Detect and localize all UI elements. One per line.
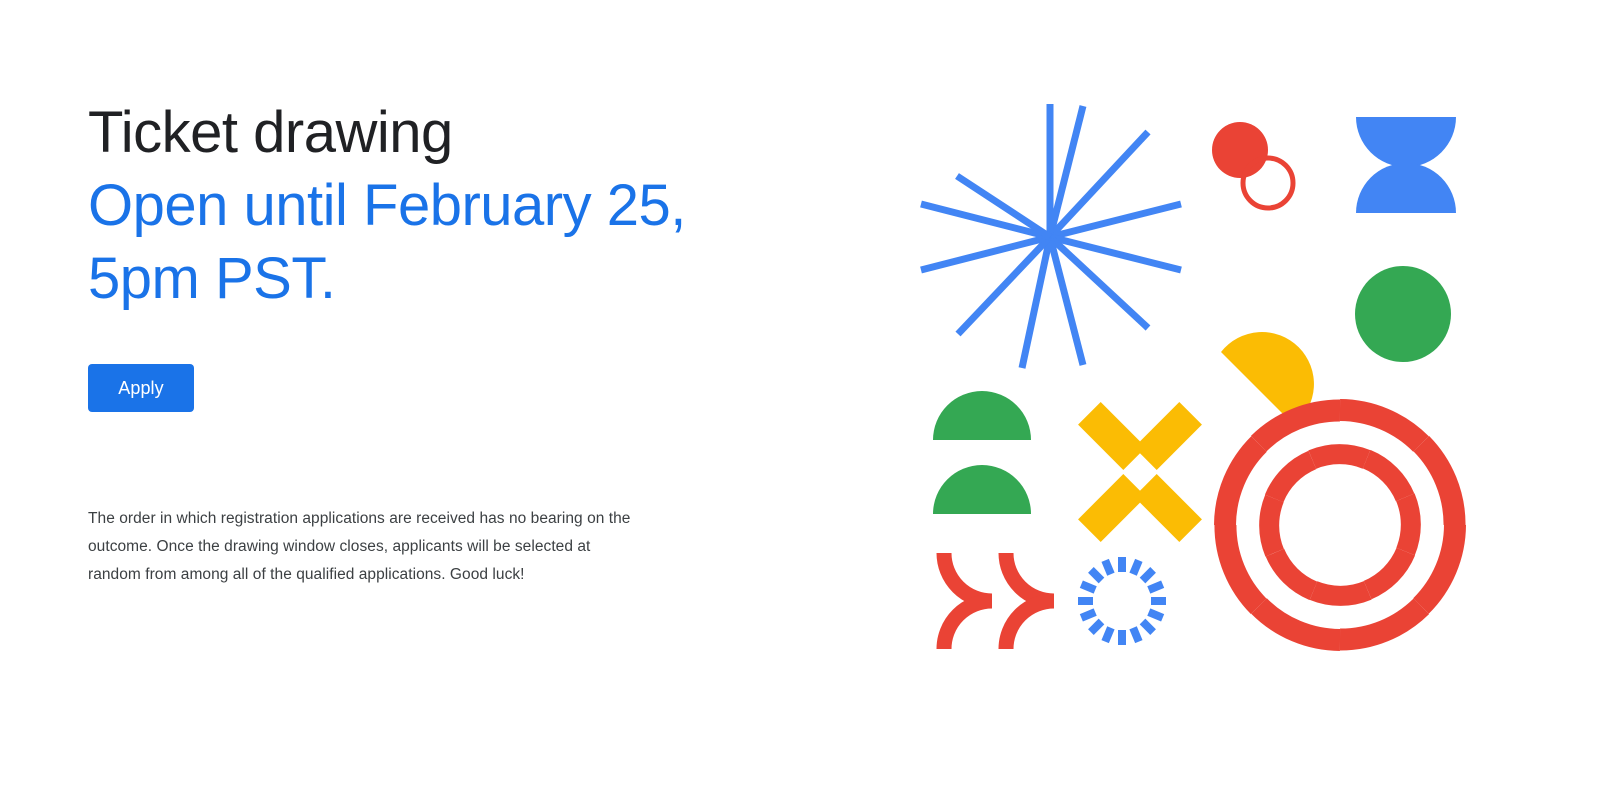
decorative-graphic: [900, 80, 1520, 680]
red-pinwheel-icon: [1201, 386, 1478, 663]
blue-starburst-icon: [921, 104, 1181, 368]
blue-hourglass-icon: [1356, 117, 1456, 213]
disclaimer-text: The order in which registration applicat…: [88, 505, 636, 589]
hero-content: Ticket drawing Open until February 25, 5…: [88, 96, 788, 315]
apply-button[interactable]: Apply: [88, 364, 194, 412]
headline-accent-line-1: Open until February 25,: [88, 169, 788, 242]
red-filled-circle-icon: [1212, 122, 1268, 178]
blue-dotted-spinner-icon: [1078, 557, 1166, 645]
red-double-chevron-icon: [944, 553, 1054, 649]
green-stacked-domes-icon: [933, 391, 1031, 514]
yellow-cross-x-icon: [1078, 402, 1202, 542]
red-outline-circle-icon: [1243, 158, 1293, 208]
page-title: Ticket drawing Open until February 25, 5…: [88, 96, 788, 315]
headline-title-line: Ticket drawing: [88, 96, 788, 169]
shapes-collage-svg: [900, 80, 1520, 680]
green-filled-circle-icon: [1355, 266, 1451, 362]
headline-accent-line-2: 5pm PST.: [88, 242, 788, 315]
page-root: Ticket drawing Open until February 25, 5…: [0, 0, 1600, 800]
